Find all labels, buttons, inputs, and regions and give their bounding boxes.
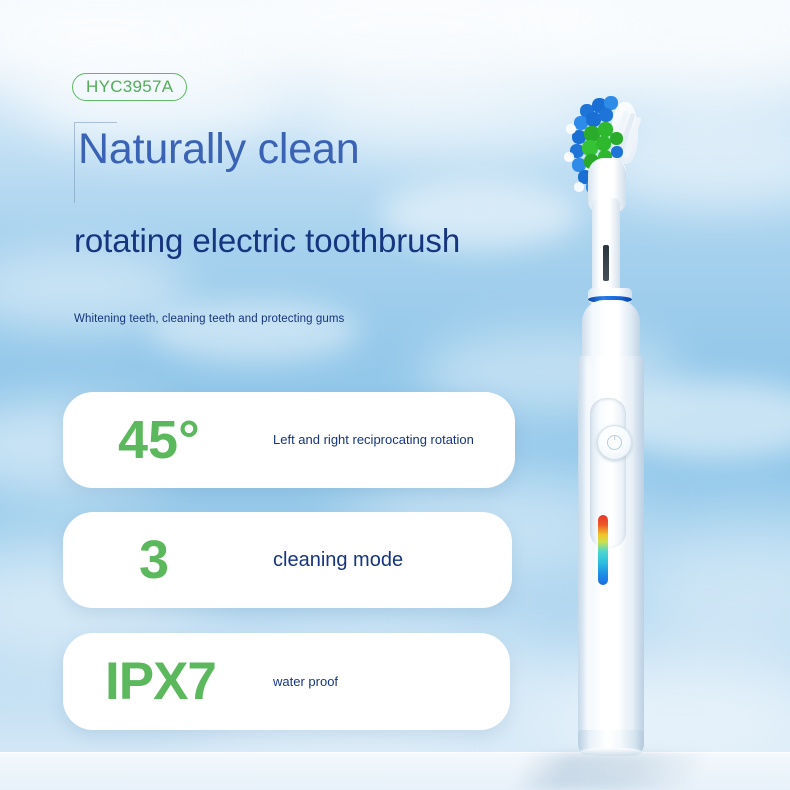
power-icon xyxy=(607,435,622,450)
product-poster: HYC3957A Naturally clean rotating electr… xyxy=(0,0,790,790)
product-tagline: Whitening teeth, cleaning teeth and prot… xyxy=(74,313,344,325)
product-subtitle: rotating electric toothbrush xyxy=(74,222,460,260)
electric-toothbrush-product-image xyxy=(500,60,750,760)
power-button[interactable] xyxy=(597,425,632,460)
feature-description: water proof xyxy=(273,674,338,690)
cloud xyxy=(150,300,360,362)
feature-metric: 45° xyxy=(118,413,273,467)
feature-card: 3 cleaning mode xyxy=(63,512,512,608)
feature-metric: IPX7 xyxy=(105,655,273,708)
feature-description: cleaning mode xyxy=(273,548,403,572)
feature-metric: 3 xyxy=(139,533,273,587)
feature-card: IPX7 water proof xyxy=(63,633,510,730)
handle-foot xyxy=(580,748,642,756)
feature-card: 45° Left and right reciprocating rotatio… xyxy=(63,392,515,488)
handle-grip-panel xyxy=(590,398,626,548)
mode-indicator-strip xyxy=(598,515,608,585)
page-title: Naturally clean xyxy=(78,126,359,173)
model-badge: HYC3957A xyxy=(72,73,187,101)
handle-highlight-right xyxy=(630,360,639,746)
feature-description: Left and right reciprocating rotation xyxy=(273,432,474,448)
neck-slot xyxy=(603,245,609,281)
